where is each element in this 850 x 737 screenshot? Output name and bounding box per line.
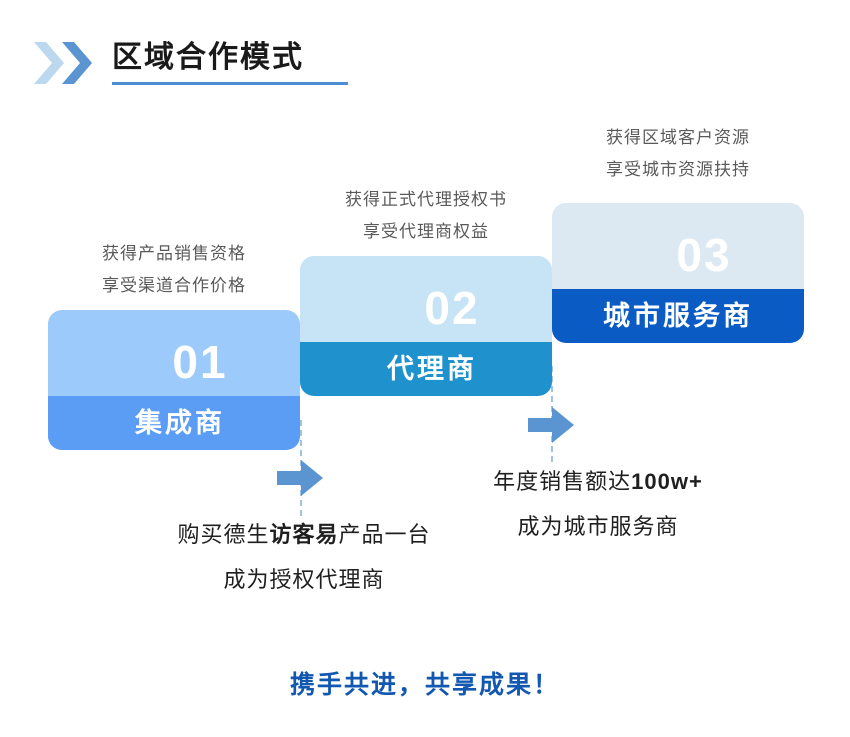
- requirement-line-2: 成为城市服务商: [433, 504, 763, 549]
- requirement-highlight: 访客易: [269, 522, 338, 547]
- requirement-highlight: 100w+: [631, 469, 703, 494]
- requirement-prefix: 年度销售额达: [493, 469, 631, 494]
- benefit-line: 享受渠道合作价格: [34, 270, 314, 302]
- requirement-line-1: 年度销售额达100w+: [433, 459, 763, 504]
- benefit-line: 获得区域客户资源: [538, 122, 818, 154]
- page-header: 区域合作模式: [0, 0, 850, 110]
- step-card-02[interactable]: 02 代理商: [300, 256, 552, 396]
- poster-canvas: 区域合作模式 获得产品销售资格 享受渠道合作价格 获得正式代理授权书 享受代理商…: [0, 0, 850, 737]
- step-label: 代理商: [300, 354, 552, 384]
- benefit-line: 获得正式代理授权书: [286, 184, 566, 216]
- page-title: 区域合作模式: [112, 38, 304, 78]
- header-chevron-group: [34, 42, 106, 84]
- title-underline: [112, 82, 348, 85]
- step-card-03[interactable]: 03 城市服务商: [552, 203, 804, 343]
- requirement-step-1: 购买德生访客易产品一台 成为授权代理商: [139, 512, 469, 602]
- step-label: 城市服务商: [552, 301, 804, 331]
- requirement-line-1: 购买德生访客易产品一台: [139, 512, 469, 557]
- benefits-step-2: 获得正式代理授权书 享受代理商权益: [286, 184, 566, 248]
- chevron-right-icon: [34, 42, 64, 84]
- requirement-suffix: 产品一台: [339, 522, 431, 547]
- benefit-line: 享受城市资源扶持: [538, 154, 818, 186]
- benefit-line: 获得产品销售资格: [34, 238, 314, 270]
- requirement-step-2: 年度销售额达100w+ 成为城市服务商: [433, 459, 763, 549]
- arrow-right-icon: [277, 460, 323, 496]
- step-number: 01: [48, 336, 300, 388]
- step-label: 集成商: [48, 408, 300, 438]
- step-number: 03: [552, 229, 804, 281]
- requirement-line-2: 成为授权代理商: [139, 557, 469, 602]
- step-number: 02: [300, 282, 552, 334]
- requirement-prefix: 购买德生: [177, 522, 269, 547]
- benefits-step-3: 获得区域客户资源 享受城市资源扶持: [538, 122, 818, 186]
- benefit-line: 享受代理商权益: [286, 216, 566, 248]
- footer-slogan: 携手共进，共享成果！: [0, 668, 850, 702]
- step-card-01[interactable]: 01 集成商: [48, 310, 300, 450]
- arrow-right-icon: [528, 407, 574, 443]
- benefits-step-1: 获得产品销售资格 享受渠道合作价格: [34, 238, 314, 302]
- chevron-right-icon: [62, 42, 92, 84]
